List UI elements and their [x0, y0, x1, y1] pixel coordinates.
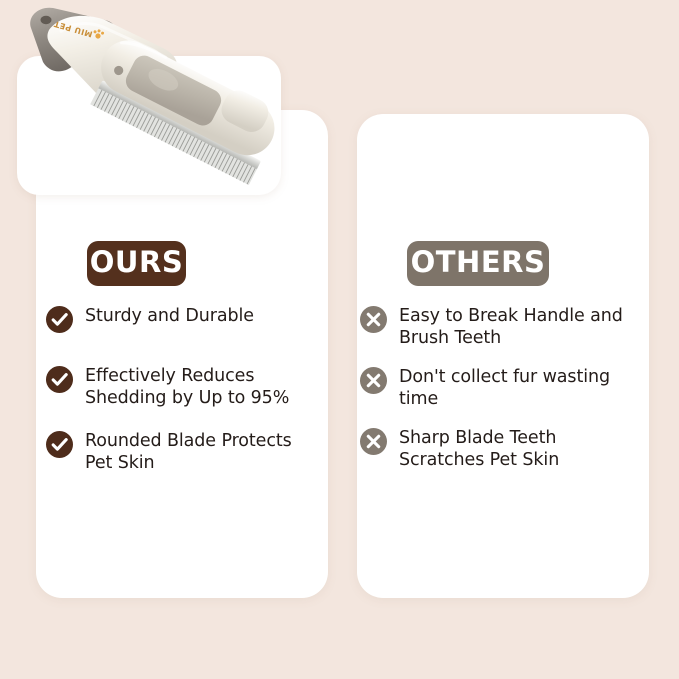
ours-badge-label: OURS — [90, 248, 183, 277]
list-item: Rounded Blade Protects Pet Skin — [46, 430, 312, 475]
comparison-infographic: MIU PET — [0, 0, 679, 679]
list-item: Easy to Break Handle and Brush Teeth — [360, 305, 626, 350]
feature-text: Sharp Blade Teeth Scratches Pet Skin — [399, 427, 625, 472]
list-item: Effectively Reduces Shedding by Up to 95… — [46, 365, 312, 410]
others-badge-label: OTHERS — [411, 248, 546, 277]
feature-text: Easy to Break Handle and Brush Teeth — [399, 305, 625, 350]
list-item: Don't collect fur wasting time — [360, 366, 626, 411]
others-feature-list: Easy to Break Handle and Brush Teeth Don… — [360, 305, 626, 471]
check-circle-icon — [46, 431, 73, 458]
list-item: Sharp Blade Teeth Scratches Pet Skin — [360, 427, 626, 472]
others-badge: OTHERS — [407, 241, 549, 286]
list-item: Sturdy and Durable — [46, 305, 312, 333]
ours-badge: OURS — [87, 241, 186, 286]
cross-circle-icon — [360, 306, 387, 333]
feature-text: Don't collect fur wasting time — [399, 366, 625, 411]
check-circle-icon — [46, 366, 73, 393]
feature-text: Effectively Reduces Shedding by Up to 95… — [85, 365, 311, 410]
ours-feature-list: Sturdy and Durable Effectively Reduces S… — [46, 305, 312, 475]
check-circle-icon — [46, 306, 73, 333]
cross-circle-icon — [360, 428, 387, 455]
feature-text: Rounded Blade Protects Pet Skin — [85, 430, 311, 475]
cross-circle-icon — [360, 367, 387, 394]
product-image-card: MIU PET — [17, 56, 281, 195]
svg-text:MIU PET: MIU PET — [53, 19, 94, 39]
feature-text: Sturdy and Durable — [85, 305, 254, 327]
pet-deshedding-brush-image: MIU PET — [13, 0, 303, 200]
